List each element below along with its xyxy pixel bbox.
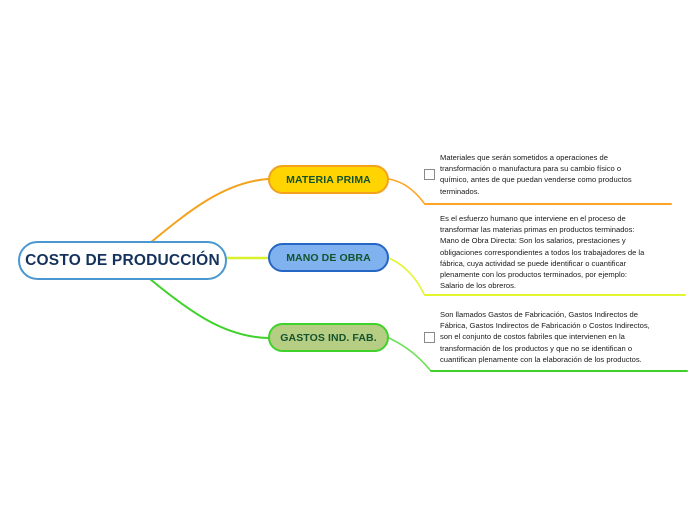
note-rule-materia-prima	[424, 203, 672, 205]
branch-node-mano-de-obra[interactable]: MANO DE OBRA	[268, 243, 389, 272]
branch-node-label-materia-prima: MATERIA PRIMA	[286, 174, 371, 186]
connector-root-materia-prima	[150, 179, 268, 243]
note-text-mano-de-obra: Es el esfuerzo humano que interviene en …	[440, 213, 644, 291]
note-text-materia-prima: Materiales que serán sometidos a operaci…	[440, 152, 632, 197]
note-row: Es el esfuerzo humano que interviene en …	[424, 213, 686, 291]
checkbox-icon-materia-prima[interactable]	[424, 169, 435, 180]
checkbox-placeholder-mano-de-obra	[424, 247, 435, 258]
branch-node-label-gastos-ind-fab: GASTOS IND. FAB.	[280, 332, 377, 344]
note-block-gastos-ind-fab: Son llamados Gastos de Fabricación, Gast…	[424, 309, 686, 365]
note-rule-mano-de-obra	[424, 294, 686, 296]
note-row: Materiales que serán sometidos a operaci…	[424, 152, 680, 197]
mindmap-canvas: COSTO DE PRODUCCIÓN MATERIA PRIMA MANO D…	[0, 0, 696, 520]
note-rule-gastos-ind-fab	[430, 370, 688, 372]
note-text-gastos-ind-fab: Son llamados Gastos de Fabricación, Gast…	[440, 309, 650, 365]
checkbox-icon-gastos-ind-fab[interactable]	[424, 332, 435, 343]
note-block-mano-de-obra: Es el esfuerzo humano que interviene en …	[424, 213, 686, 291]
connector-mano-de-obra-note	[389, 258, 424, 294]
note-row: Son llamados Gastos de Fabricación, Gast…	[424, 309, 686, 365]
note-block-materia-prima: Materiales que serán sometidos a operaci…	[424, 152, 680, 197]
root-node-costo-de-produccion[interactable]: COSTO DE PRODUCCIÓN	[18, 241, 227, 280]
branch-node-materia-prima[interactable]: MATERIA PRIMA	[268, 165, 389, 194]
connector-root-gastos-ind-fab	[150, 279, 268, 338]
root-node-label: COSTO DE PRODUCCIÓN	[25, 252, 220, 270]
branch-node-label-mano-de-obra: MANO DE OBRA	[286, 252, 371, 264]
branch-node-gastos-ind-fab[interactable]: GASTOS IND. FAB.	[268, 323, 389, 352]
connector-materia-prima-note	[389, 179, 424, 203]
